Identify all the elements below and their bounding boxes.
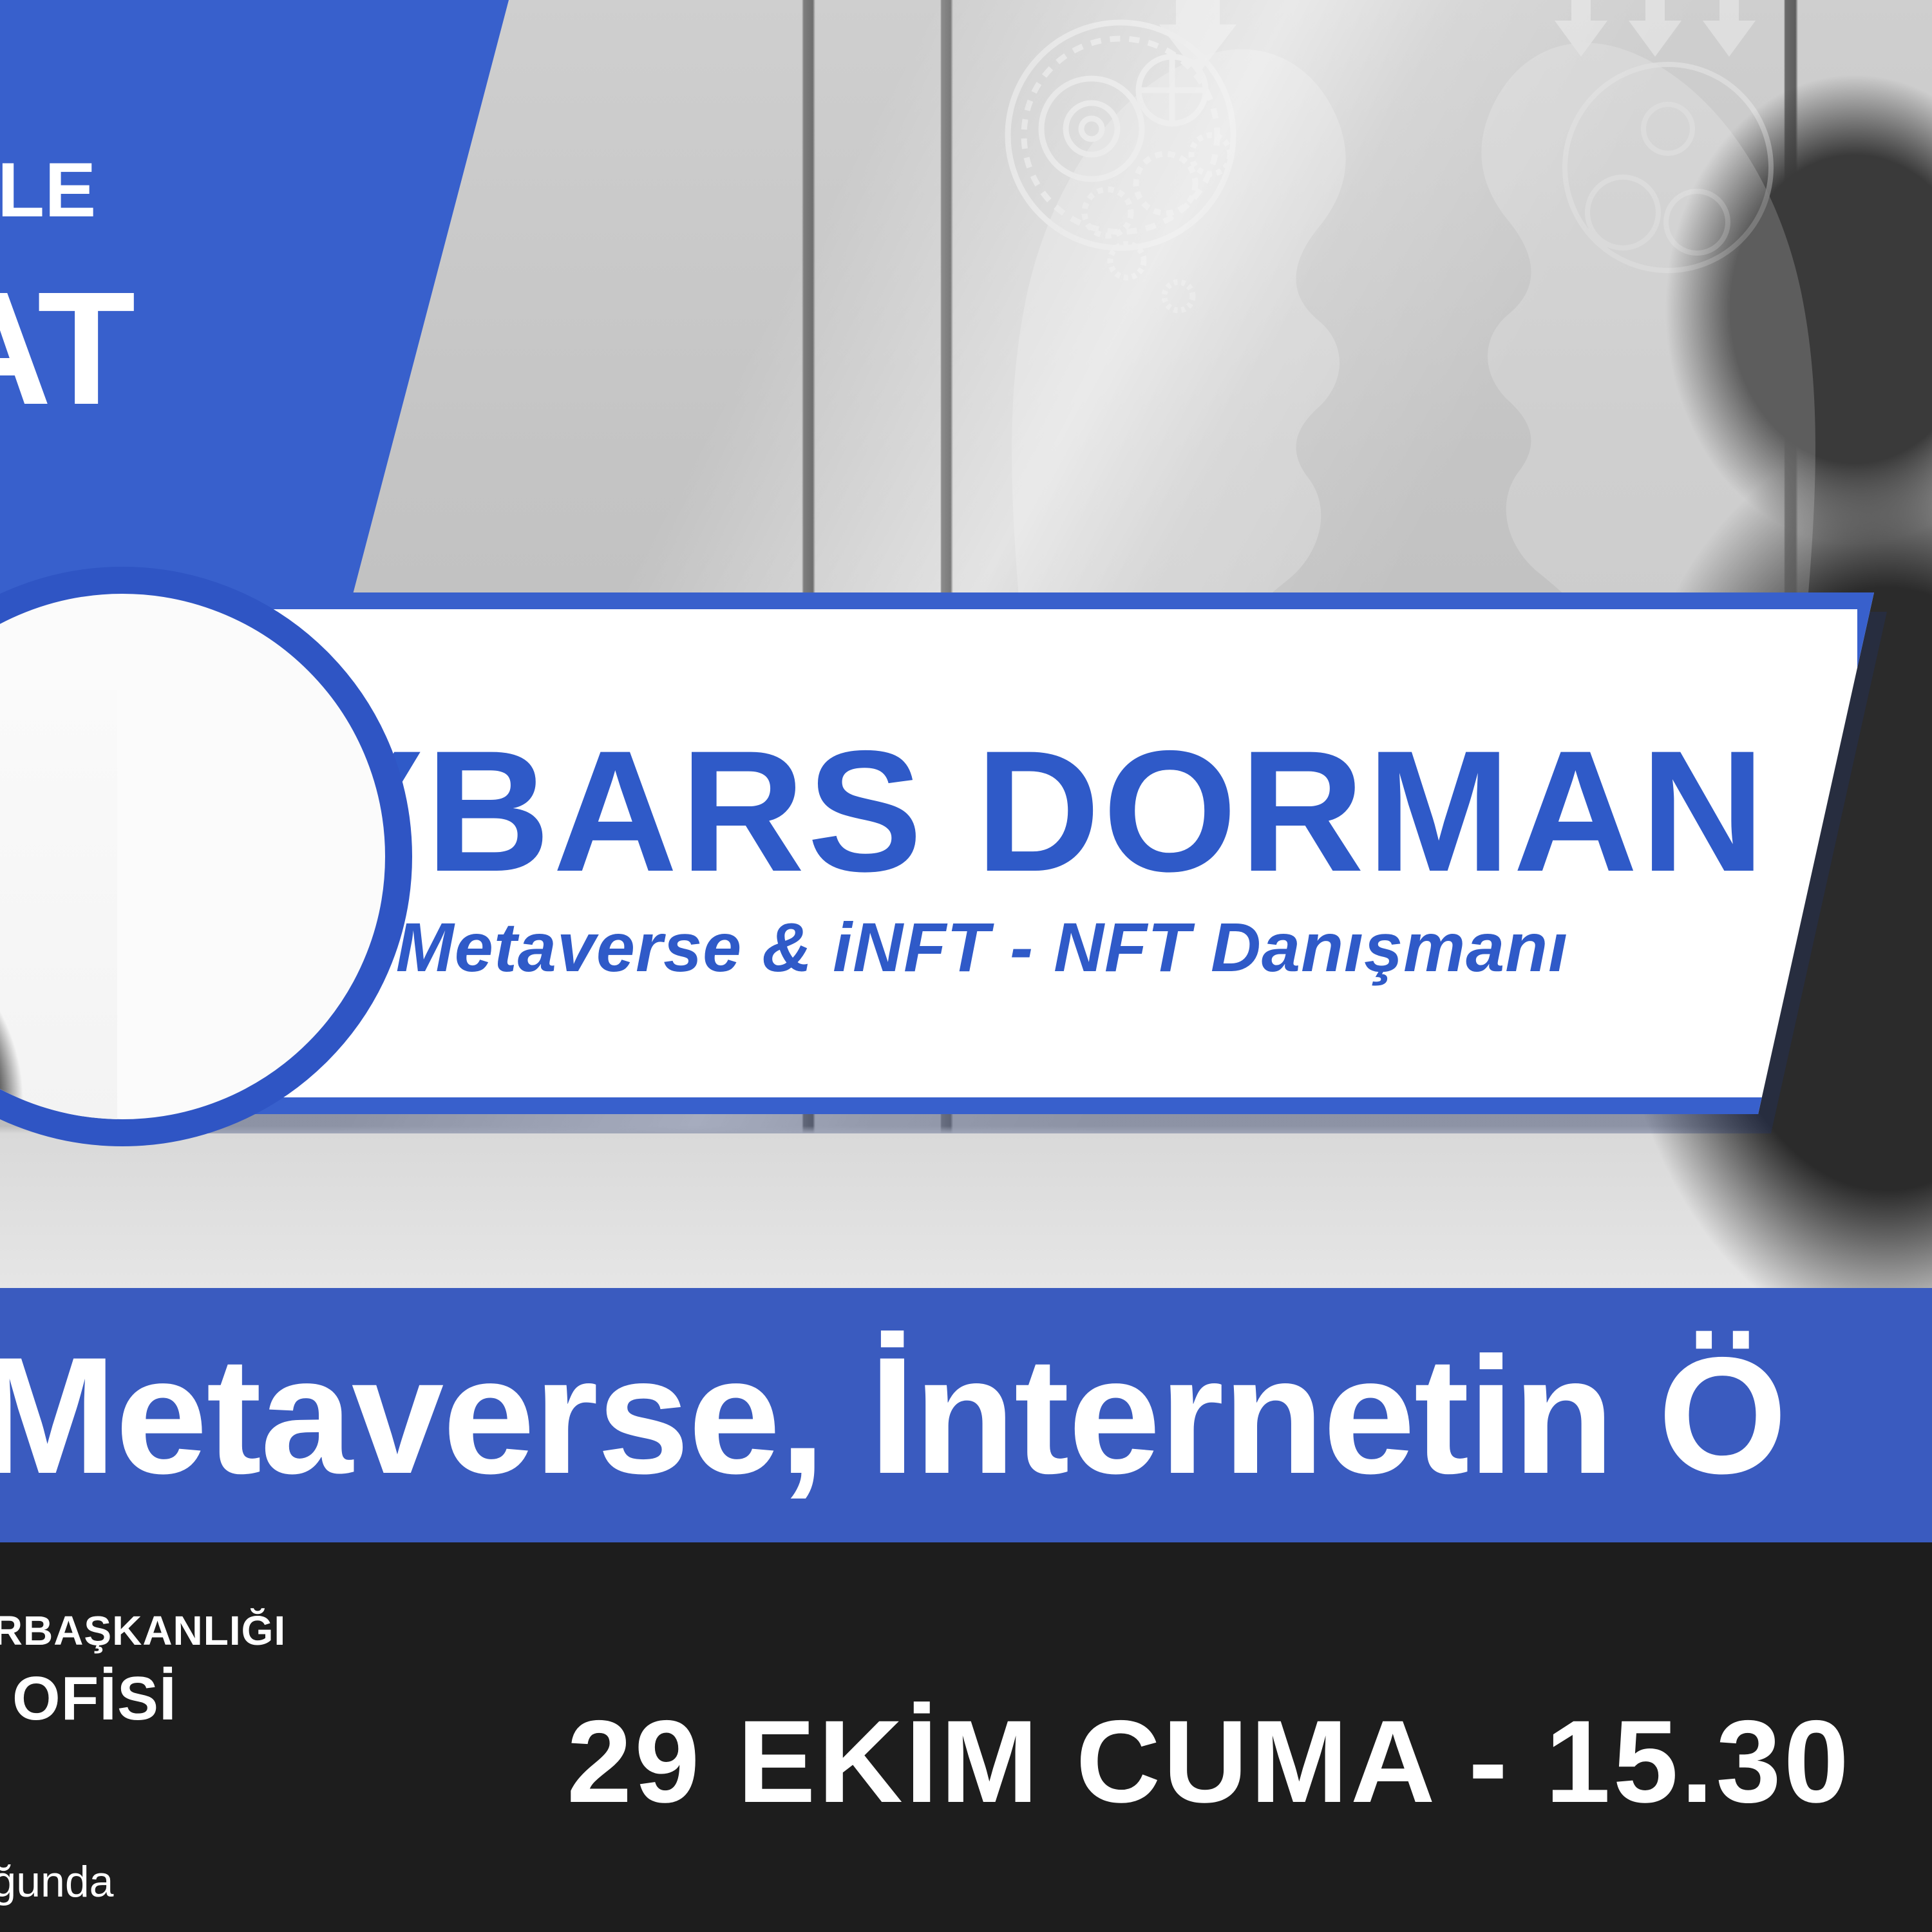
talk-title-band: Metaverse, İnternetin Ö xyxy=(0,1288,1932,1542)
sponsor-block: MHURBAŞKANLIĞI ÜM OFİSİ sorluğunda xyxy=(0,1607,348,1907)
event-datetime: 29 EKİM CUMA - 15.30 xyxy=(567,1694,1851,1829)
show-title-lockup: NİLE YAT xyxy=(0,97,335,424)
head-gears-icon xyxy=(985,0,1385,657)
sponsor-line-2: ÜM OFİSİ xyxy=(0,1663,348,1734)
avatar-photo xyxy=(0,690,117,1146)
show-title-line1-row: NİLE xyxy=(0,97,335,248)
show-title-line2: YAT xyxy=(0,272,335,424)
head-arrows-icon xyxy=(1443,0,1855,650)
show-title-ile: İLE xyxy=(0,147,96,233)
speaker-name: AYBARS DORMAN xyxy=(196,724,1767,897)
sponsor-line-1: MHURBAŞKANLIĞI xyxy=(0,1607,348,1654)
talk-title: Metaverse, İnternetin Ö xyxy=(0,1332,1786,1499)
sponsor-line-3: sorluğunda xyxy=(0,1857,348,1907)
speaker-role: Metaverse & iNFT - NFT Danışmanı xyxy=(396,913,1568,982)
event-poster: NİLE YAT AYBARS DORMAN Metaverse & iNFT … xyxy=(0,0,1932,1932)
